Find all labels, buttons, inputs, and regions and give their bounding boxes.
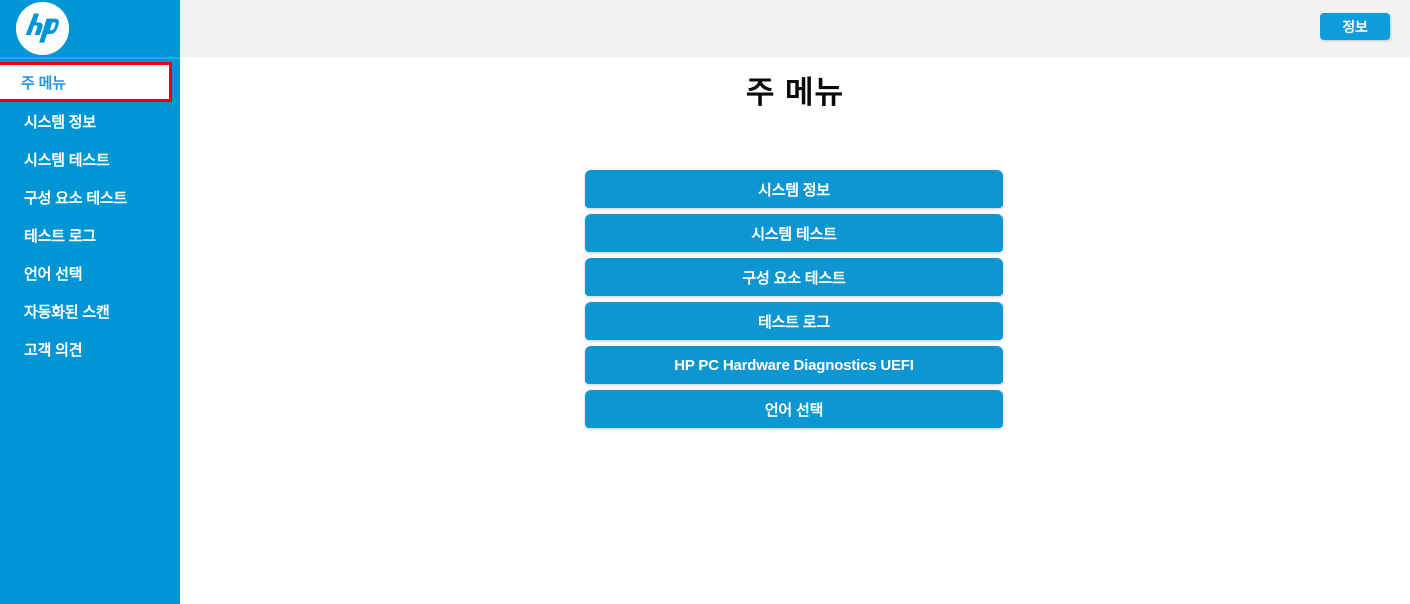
sidebar-item-test-logs[interactable]: 테스트 로그 <box>0 216 180 254</box>
diagnostics-window: 주 메뉴 시스템 정보 시스템 테스트 구성 요소 테스트 테스트 로그 언어 … <box>0 0 1410 604</box>
sidebar-item-system-tests[interactable]: 시스템 테스트 <box>0 140 180 178</box>
sidebar: 주 메뉴 시스템 정보 시스템 테스트 구성 요소 테스트 테스트 로그 언어 … <box>0 0 180 604</box>
sidebar-item-label: 고객 의견 <box>24 339 82 360</box>
sidebar-logo-area <box>0 0 180 57</box>
test-logs-button[interactable]: 테스트 로그 <box>585 302 1003 340</box>
hp-pc-hardware-diagnostics-uefi-button[interactable]: HP PC Hardware Diagnostics UEFI <box>585 346 1003 384</box>
sidebar-item-system-information[interactable]: 시스템 정보 <box>0 102 180 140</box>
main-content: 주 메뉴 시스템 정보 시스템 테스트 구성 요소 테스트 테스트 로그 HP … <box>180 57 1410 604</box>
hp-logo-icon <box>16 2 69 55</box>
system-tests-button[interactable]: 시스템 테스트 <box>585 214 1003 252</box>
sidebar-divider <box>0 57 180 59</box>
sidebar-item-label: 주 메뉴 <box>21 72 66 93</box>
sidebar-item-label: 언어 선택 <box>24 263 82 284</box>
component-tests-button[interactable]: 구성 요소 테스트 <box>585 258 1003 296</box>
page-title: 주 메뉴 <box>180 67 1410 112</box>
sidebar-item-label: 테스트 로그 <box>24 225 96 246</box>
sidebar-menu: 주 메뉴 시스템 정보 시스템 테스트 구성 요소 테스트 테스트 로그 언어 … <box>0 62 180 368</box>
header-bar: 정보 <box>180 0 1410 57</box>
sidebar-item-label: 시스템 정보 <box>24 111 96 132</box>
language-button[interactable]: 언어 선택 <box>585 390 1003 428</box>
sidebar-item-customer-feedback[interactable]: 고객 의견 <box>0 330 180 368</box>
sidebar-item-component-tests[interactable]: 구성 요소 테스트 <box>0 178 180 216</box>
main-menu-button-list: 시스템 정보 시스템 테스트 구성 요소 테스트 테스트 로그 HP PC Ha… <box>585 170 1003 428</box>
sidebar-item-main-menu[interactable]: 주 메뉴 <box>0 62 172 102</box>
sidebar-item-label: 시스템 테스트 <box>24 149 110 170</box>
system-information-button[interactable]: 시스템 정보 <box>585 170 1003 208</box>
sidebar-item-label: 자동화된 스캔 <box>24 301 110 322</box>
sidebar-item-label: 구성 요소 테스트 <box>24 187 127 208</box>
sidebar-item-language[interactable]: 언어 선택 <box>0 254 180 292</box>
sidebar-item-automated-scan[interactable]: 자동화된 스캔 <box>0 292 180 330</box>
info-button[interactable]: 정보 <box>1320 13 1390 40</box>
